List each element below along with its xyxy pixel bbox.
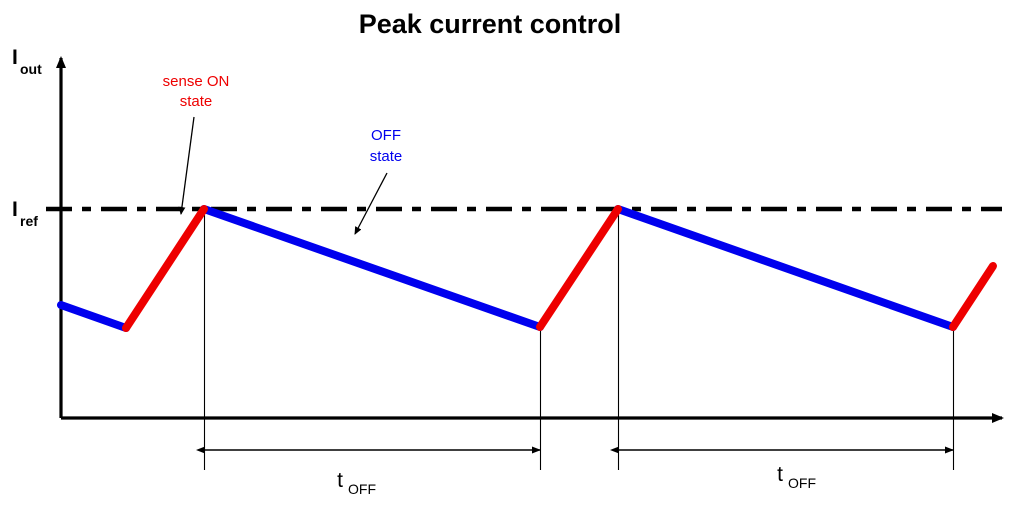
figure-canvas: Peak current control I out I ref [0, 0, 1017, 512]
axis-group [61, 58, 1002, 418]
reference-level-label: I ref [12, 198, 38, 229]
annotation-off-line-1: OFF [371, 127, 401, 144]
dimension-toff-second-label-main: t [777, 463, 783, 486]
off-segment-0 [61, 305, 126, 328]
dimension-toff-first-label-subscript: OFF [348, 481, 376, 497]
y-axis-label: I out [12, 46, 42, 77]
reference-label-subscript: ref [20, 213, 38, 229]
on-segment-0 [126, 209, 204, 328]
off-segment-2 [618, 209, 953, 327]
annotation-sense-on-line-1: sense ON [163, 73, 230, 90]
on-segment-1 [540, 209, 618, 327]
annotation-off-line-2: state [370, 148, 403, 165]
off-segment-1 [204, 209, 540, 327]
dimension-toff-second-label-subscript: OFF [788, 475, 816, 491]
y-axis-label-main: I [12, 46, 18, 69]
dimension-toff-first-label-main: t [337, 469, 343, 492]
peak-current-control-diagram: Peak current control I out I ref [0, 0, 1017, 512]
annotation-sense-on-line-2: state [180, 93, 213, 110]
annotation-off-leader [355, 173, 387, 234]
reference-label-main: I [12, 198, 18, 221]
y-axis-label-subscript: out [20, 61, 42, 77]
dimension-toff-second: t OFF [618, 450, 953, 491]
annotation-sense-on-leader [181, 117, 194, 214]
annotation-off-state: OFF state [355, 127, 402, 234]
on-segment-2 [953, 266, 993, 327]
dimension-toff-first: t OFF [204, 450, 540, 497]
annotation-sense-on-state: sense ON state [163, 73, 230, 214]
page-title: Peak current control [359, 9, 622, 39]
